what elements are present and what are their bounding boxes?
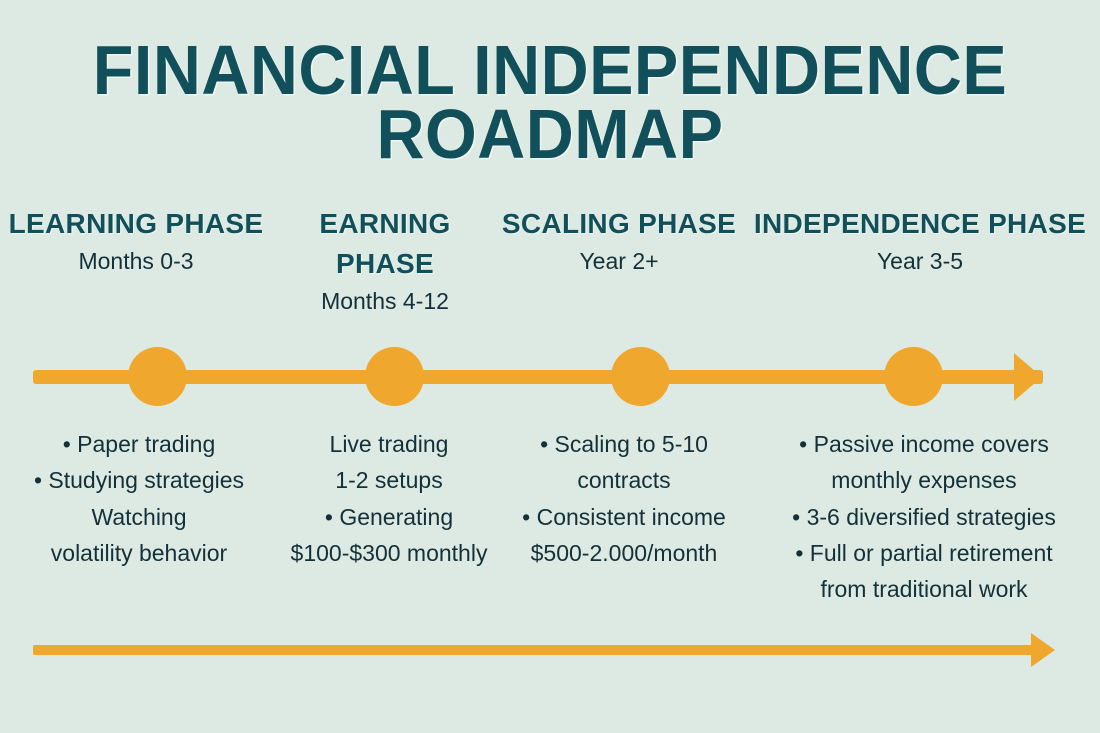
phase-header-scaling: SCALING PHASE Year 2+ <box>498 204 740 315</box>
phase-details-scaling: • Scaling to 5-10 contracts • Consistent… <box>500 426 748 571</box>
phase-name-learning: LEARNING PHASE <box>0 204 272 244</box>
phase-details-earning: Live trading 1-2 setups • Generating $10… <box>278 426 500 571</box>
timeline <box>0 340 1100 420</box>
infographic-canvas: FINANCIAL INDEPENDENCE ROADMAP LEARNING … <box>0 0 1100 733</box>
detail-text-scaling: • Scaling to 5-10 contracts • Consistent… <box>500 426 748 571</box>
page-title: FINANCIAL INDEPENDENCE ROADMAP <box>28 38 1073 167</box>
detail-text-independence: • Passive income covers monthly expenses… <box>748 426 1100 608</box>
phase-header-row: LEARNING PHASE Months 0-3 EARNING PHASE … <box>0 204 1100 315</box>
phase-header-learning: LEARNING PHASE Months 0-3 <box>0 204 272 315</box>
title-line-1: FINANCIAL INDEPENDENCE <box>28 38 1073 102</box>
detail-text-learning: • Paper trading • Studying strategies Wa… <box>0 426 278 571</box>
phase-header-independence: INDEPENDENCE PHASE Year 3-5 <box>740 204 1100 315</box>
phase-details-learning: • Paper trading • Studying strategies Wa… <box>0 426 278 571</box>
phase-timeframe-learning: Months 0-3 <box>0 248 272 276</box>
bottom-arrow-bar <box>33 645 1033 655</box>
phase-timeframe-earning: Months 4-12 <box>272 288 498 316</box>
title-line-2: ROADMAP <box>28 102 1073 166</box>
phase-timeframe-scaling: Year 2+ <box>498 248 740 276</box>
phase-details-independence: • Passive income covers monthly expenses… <box>748 426 1100 608</box>
phase-name-earning: EARNING PHASE <box>272 204 498 284</box>
phase-name-independence: INDEPENDENCE PHASE <box>740 204 1100 244</box>
phase-header-earning: EARNING PHASE Months 4-12 <box>272 204 498 315</box>
bottom-progress-arrow <box>0 628 1100 672</box>
timeline-milestone-learning <box>128 347 187 406</box>
timeline-milestone-earning <box>365 347 424 406</box>
phase-name-scaling: SCALING PHASE <box>498 204 740 244</box>
timeline-milestone-scaling <box>611 347 670 406</box>
timeline-milestone-independence <box>884 347 943 406</box>
phase-details-row: • Paper trading • Studying strategies Wa… <box>0 426 1100 608</box>
bottom-arrow-icon <box>1031 633 1055 667</box>
phase-timeframe-independence: Year 3-5 <box>740 248 1100 276</box>
timeline-arrow-icon <box>1014 353 1042 401</box>
detail-text-earning: Live trading 1-2 setups • Generating $10… <box>278 426 500 571</box>
